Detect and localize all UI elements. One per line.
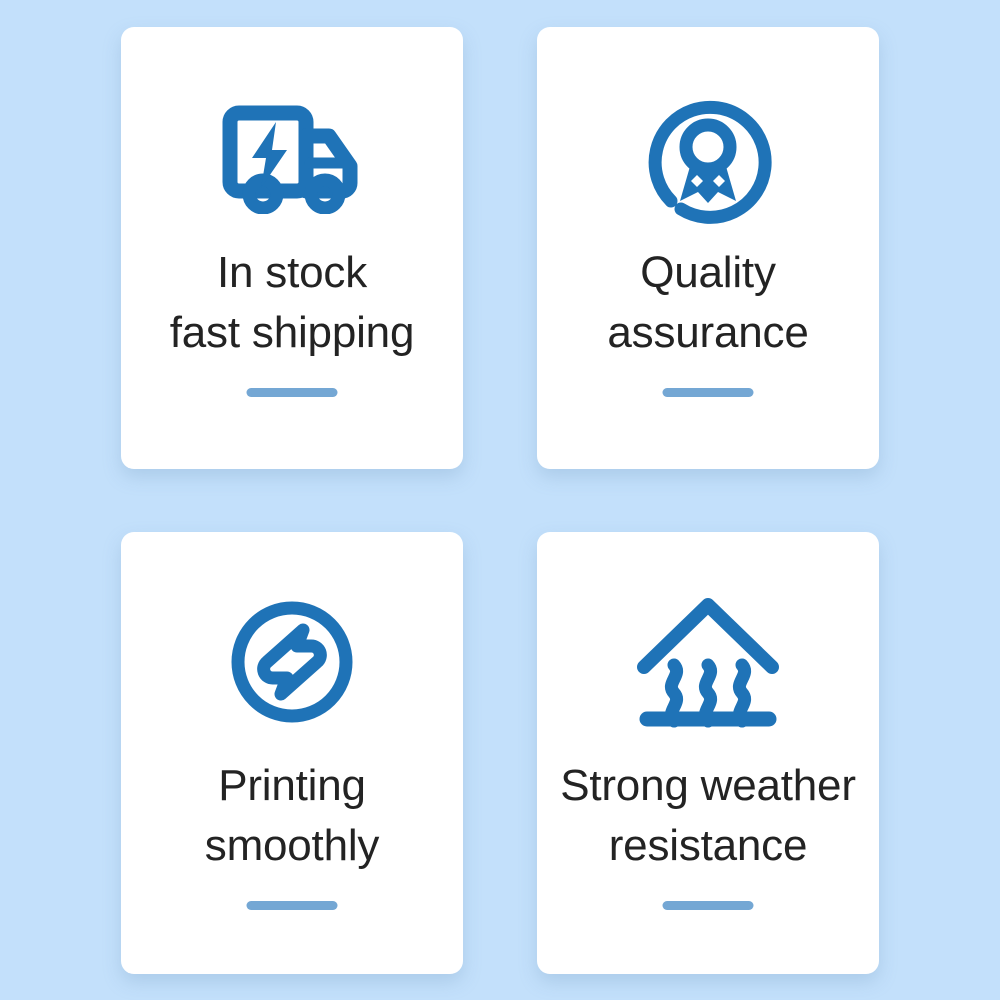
card-title: In stock fast shipping	[107, 243, 477, 363]
card-divider	[663, 388, 754, 397]
card-divider	[663, 901, 754, 910]
feature-card-in-stock-fast-shipping[interactable]: In stock fast shipping	[121, 27, 463, 469]
card-title: Strong weather resistance	[523, 756, 893, 876]
feature-card-quality-assurance[interactable]: Quality assurance	[537, 27, 879, 469]
lightning-bolt-circle-icon	[121, 582, 463, 742]
card-divider	[247, 388, 338, 397]
house-heat-waves-icon	[537, 582, 879, 742]
card-title: Quality assurance	[523, 243, 893, 363]
feature-card-grid: In stock fast shipping Quality assurance	[0, 0, 1000, 1000]
card-divider	[247, 901, 338, 910]
award-medal-circle-icon	[537, 99, 879, 219]
feature-card-strong-weather-resistance[interactable]: Strong weather resistance	[537, 532, 879, 974]
feature-card-printing-smoothly[interactable]: Printing smoothly	[121, 532, 463, 974]
delivery-truck-lightning-icon	[121, 99, 463, 219]
card-title: Printing smoothly	[107, 756, 477, 876]
